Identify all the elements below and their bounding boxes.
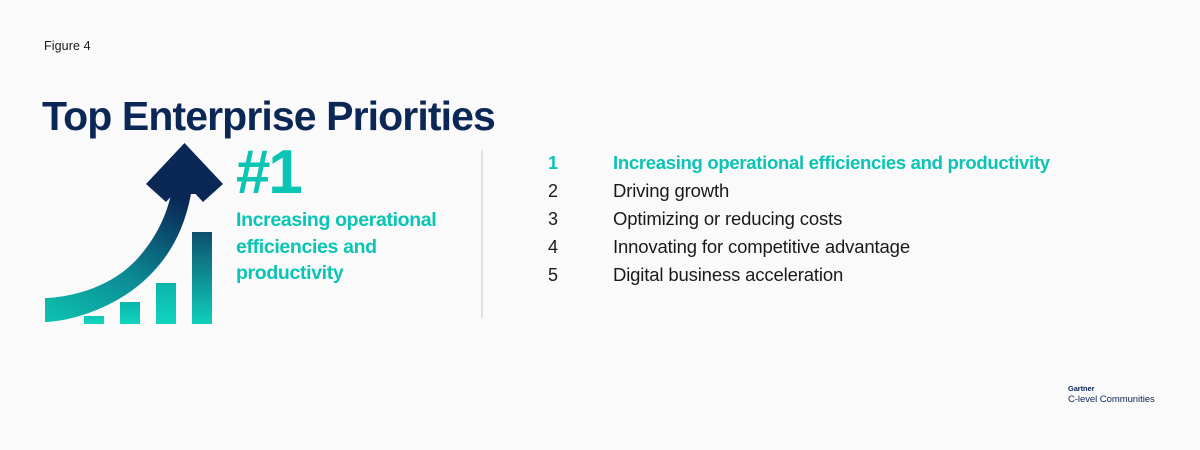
priority-label: Digital business acceleration xyxy=(613,261,843,289)
page-title: Top Enterprise Priorities xyxy=(42,93,495,140)
brand-name: Gartner xyxy=(1068,384,1155,393)
bar-1 xyxy=(84,316,104,324)
list-item[interactable]: 5 Digital business acceleration xyxy=(548,261,1148,289)
priority-label: Increasing operational efficiencies and … xyxy=(613,149,1050,177)
list-item[interactable]: 4 Innovating for competitive advantage xyxy=(548,233,1148,261)
priority-rank: 4 xyxy=(548,233,613,261)
bar-3 xyxy=(156,283,176,324)
vertical-divider xyxy=(481,150,483,318)
top-priority-highlight: #1 Increasing operational efficiencies a… xyxy=(236,144,471,287)
priority-list: 1 Increasing operational efficiencies an… xyxy=(548,149,1148,289)
priority-rank: 3 xyxy=(548,205,613,233)
brand-sub: C-level Communities xyxy=(1068,394,1155,406)
priority-rank: 5 xyxy=(548,261,613,289)
bar-2 xyxy=(120,302,140,324)
growth-arrow-bar-chart-icon xyxy=(40,140,225,330)
priority-label: Innovating for competitive advantage xyxy=(613,233,910,261)
list-item[interactable]: 1 Increasing operational efficiencies an… xyxy=(548,149,1148,177)
brand-logo: Gartner C-level Communities xyxy=(1068,384,1155,407)
priority-label: Driving growth xyxy=(613,177,729,205)
bar-4 xyxy=(192,232,212,324)
infographic-canvas: Figure 4 Top Enterprise Priorities xyxy=(0,0,1200,450)
top-priority-rank: #1 xyxy=(236,144,471,201)
priority-label: Optimizing or reducing costs xyxy=(613,205,842,233)
priority-rank: 2 xyxy=(548,177,613,205)
list-item[interactable]: 3 Optimizing or reducing costs xyxy=(548,205,1148,233)
top-priority-caption: Increasing operational efficiencies and … xyxy=(236,207,464,287)
list-item[interactable]: 2 Driving growth xyxy=(548,177,1148,205)
priority-rank: 1 xyxy=(548,149,613,177)
figure-label: Figure 4 xyxy=(44,40,91,53)
